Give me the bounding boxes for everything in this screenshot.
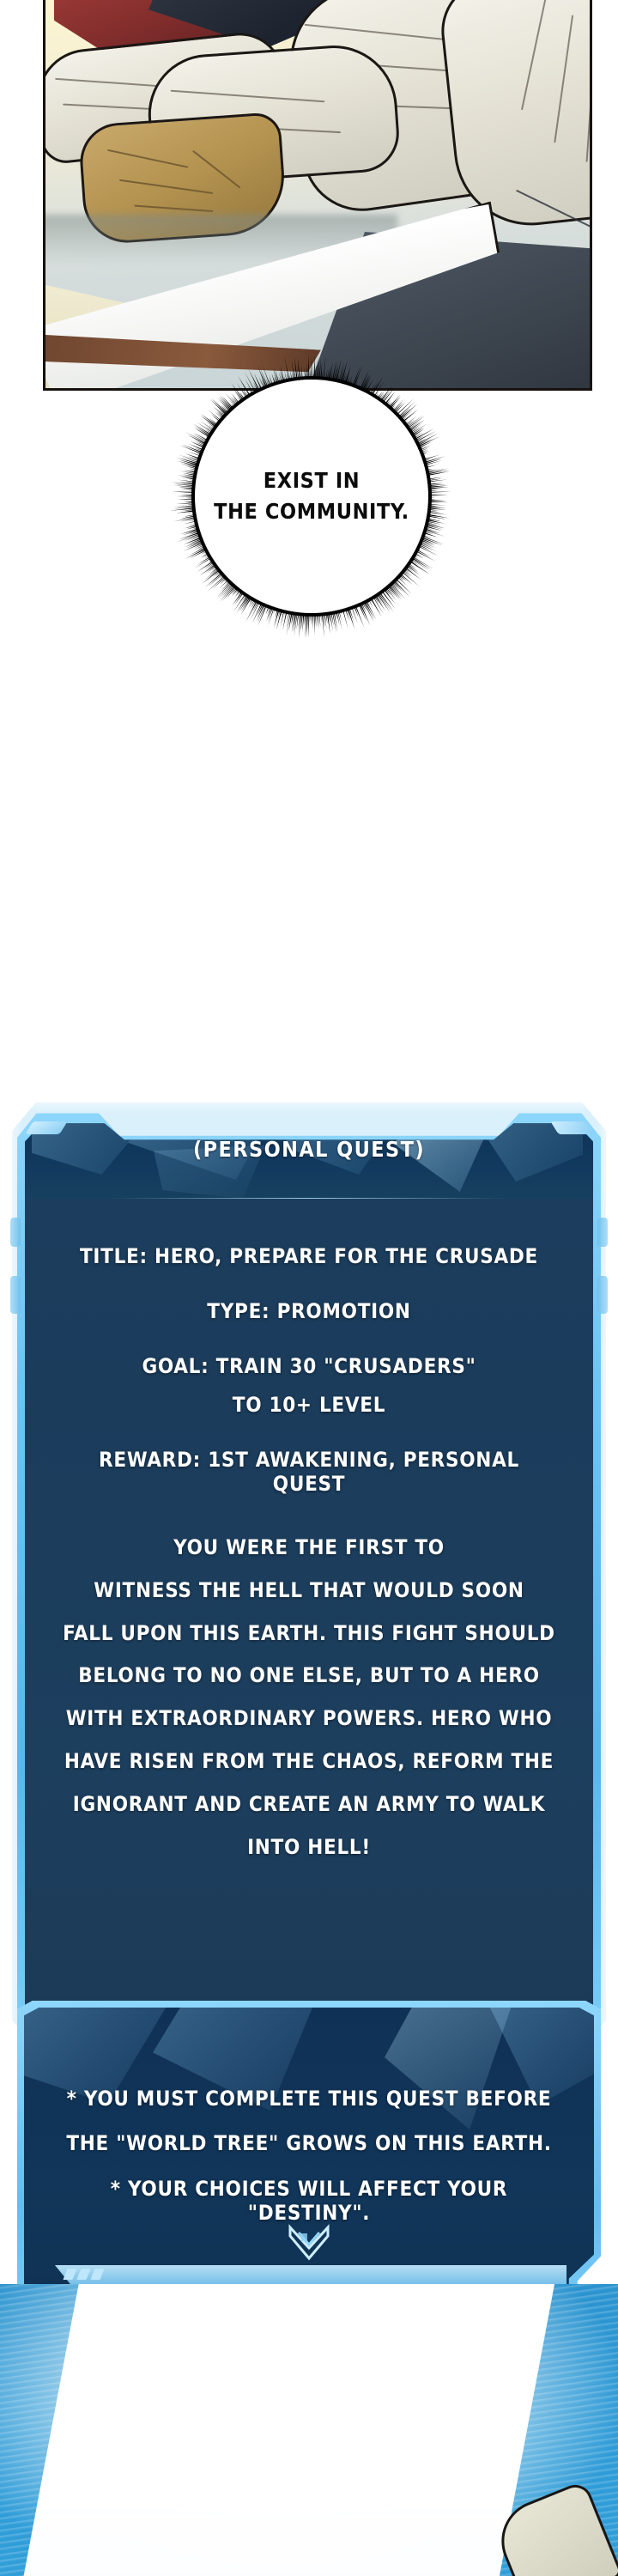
- quest-goal-line-2: TO 10+ LEVEL: [63, 1394, 555, 1418]
- status-bars-icon: [65, 2269, 102, 2280]
- corner-notch-top-right: [550, 1121, 592, 1134]
- quest-desc-line: WITH EXTRAORDINARY POWERS. HERO WHO: [63, 1707, 555, 1731]
- quest-desc-line: IGNORANT AND CREATE AN ARMY TO WALK: [63, 1793, 555, 1817]
- header-divider-rule: [111, 1198, 506, 1199]
- quest-desc-line: YOU WERE THE FIRST TO: [63, 1536, 555, 1560]
- quest-goal-line-1: GOAL: TRAIN 30 "CRUSADERS": [63, 1355, 555, 1379]
- personal-quest-window: (PERSONAL QUEST) TITLE: HERO, PREPARE FO…: [17, 1108, 601, 2044]
- side-tab-right-lower: [597, 1276, 608, 1314]
- quest-reward-line: REWARD: 1ST AWAKENING, PERSONAL QUEST: [63, 1449, 555, 1497]
- quest-desc-line: HAVE RISEN FROM THE CHAOS, REFORM THE: [63, 1750, 555, 1774]
- quest-desc-line: BELONG TO NO ONE ELSE, BUT TO A HERO: [63, 1664, 555, 1688]
- note-line: * YOU MUST COMPLETE THIS QUEST BEFORE: [60, 2087, 558, 2111]
- quest-description-paragraph: YOU WERE THE FIRST TO WITNESS THE HELL T…: [63, 1536, 555, 1860]
- status-bar-segment: [63, 2269, 76, 2280]
- note-line: * YOUR CHOICES WILL AFFECT YOUR "DESTINY…: [60, 2177, 558, 2226]
- quest-field-title: TITLE: HERO, PREPARE FOR THE CRUSADE: [63, 1245, 555, 1269]
- side-tab-left-lower: [10, 1276, 21, 1314]
- webtoon-page: EXIST IN THE COMMUNITY. (PERSONAL QUEST)…: [0, 0, 618, 2576]
- note-line: THE "WORLD TREE" GROWS ON THIS EARTH.: [60, 2131, 558, 2155]
- quest-panel-body: (PERSONAL QUEST) TITLE: HERO, PREPARE FO…: [25, 1120, 593, 2032]
- quest-desc-line: INTO HELL!: [63, 1836, 555, 1860]
- quest-panel-title: (PERSONAL QUEST): [25, 1137, 593, 1162]
- quest-field-type: TYPE: PROMOTION: [63, 1300, 555, 1324]
- light-burst-panel: [0, 2284, 618, 2576]
- quest-desc-line: FALL UPON THIS EARTH. THIS FIGHT SHOULD: [63, 1622, 555, 1646]
- spiky-speech-bubble: EXIST IN THE COMMUNITY.: [170, 355, 453, 638]
- status-bar-segment: [76, 2269, 90, 2280]
- notes-panel-bottom-bar: [55, 2265, 566, 2284]
- quest-panel-content: TITLE: HERO, PREPARE FOR THE CRUSADE TYP…: [25, 1209, 593, 1879]
- quest-desc-line: WITNESS THE HELL THAT WOULD SOON: [63, 1579, 555, 1603]
- comic-art-panel: [43, 0, 592, 391]
- double-chevron-emblem: [287, 2222, 331, 2272]
- side-tab-left-upper: [10, 1218, 21, 1247]
- side-tab-right-upper: [597, 1218, 608, 1247]
- bubble-spike-outline: [170, 355, 453, 638]
